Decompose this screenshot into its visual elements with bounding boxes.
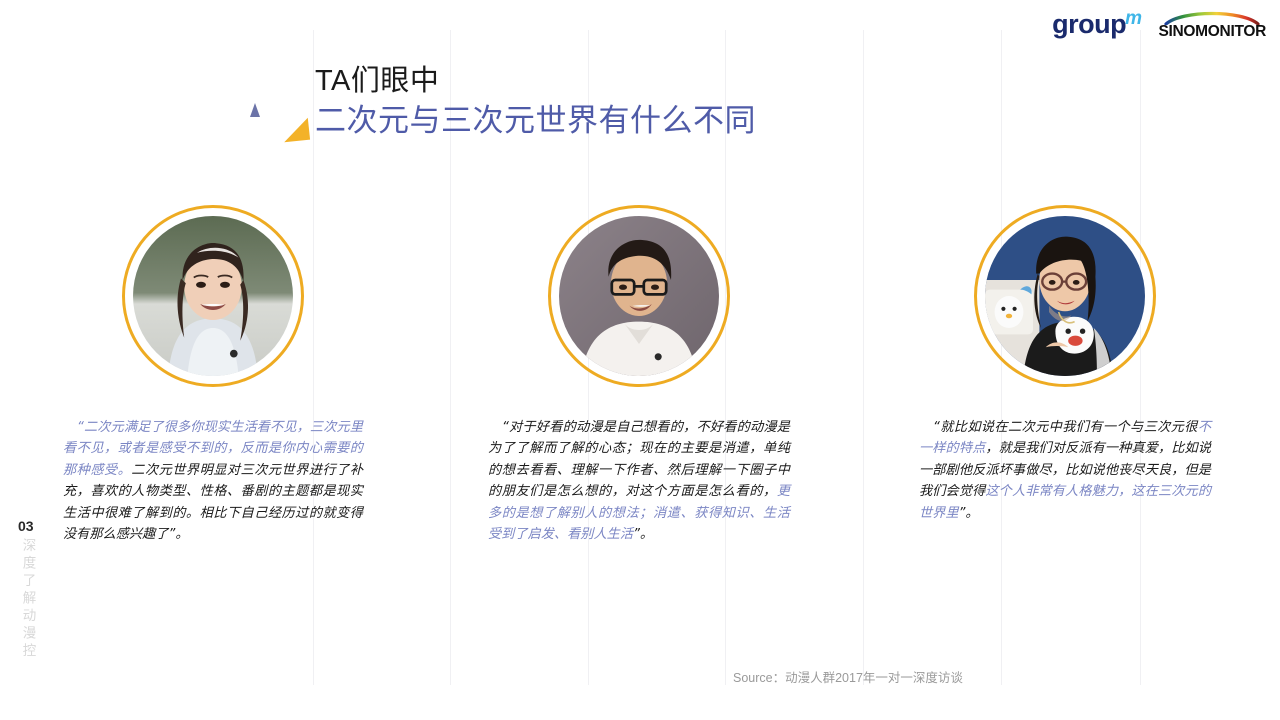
portrait-woman-glasses-plush-toy (985, 216, 1145, 376)
gold-triangle-accent-icon (282, 118, 310, 143)
respondent-columns: “二次元满足了很多你现实生活看不见，三次元里看不见，或者是感受不到的，反而是你内… (0, 205, 1280, 545)
portrait-man-glasses-white-tshirt (559, 216, 719, 376)
portrait-frame-1 (122, 205, 304, 387)
title-line-2: 二次元与三次元世界有什么不同 (315, 102, 756, 140)
quote-3-run-0: “就比如说在二次元中我们有一个与三次元很 (933, 420, 1198, 435)
blue-triangle-accent-icon (250, 103, 260, 117)
quote-2-run-0: “对于好看的动漫是自己想看的，不好看的动漫是为了了解而了解的心态；现在的主要是消… (488, 420, 790, 499)
groupm-wordmark: group (1052, 11, 1126, 38)
portrait-frame-2 (548, 205, 730, 387)
page-title: TA们眼中 二次元与三次元世界有什么不同 (315, 64, 756, 140)
respondent-quote-3: “就比如说在二次元中我们有一个与三次元很不一样的特点，就是我们对反派有一种真爱，… (919, 417, 1211, 524)
respondent-column-2: “对于好看的动漫是自己想看的，不好看的动漫是为了了解而了解的心态；现在的主要是消… (426, 205, 852, 545)
sinomonitor-wordmark: SINOMONITOR (1158, 24, 1266, 40)
respondent-column-1: “二次元满足了很多你现实生活看不见，三次元里看不见，或者是感受不到的，反而是你内… (0, 205, 426, 545)
section-vertical-label: 深度了解动漫控 (21, 538, 35, 661)
respondent-column-3: “就比如说在二次元中我们有一个与三次元很不一样的特点，就是我们对反派有一种真爱，… (852, 205, 1278, 545)
respondent-quote-2: “对于好看的动漫是自己想看的，不好看的动漫是为了了解而了解的心态；现在的主要是消… (488, 417, 790, 545)
title-line-1: TA们眼中 (315, 64, 756, 99)
brand-logo-bar: groupm SINOMONITOR (1052, 10, 1266, 40)
page-number: 03 (18, 518, 34, 534)
quote-3-run-4: ”。 (959, 506, 979, 521)
quote-2-run-2: ”。 (633, 527, 653, 542)
portrait-young-woman-light-blouse (133, 216, 293, 376)
groupm-m-mark: m (1125, 9, 1141, 28)
portrait-frame-3 (974, 205, 1156, 387)
respondent-quote-1: “二次元满足了很多你现实生活看不见，三次元里看不见，或者是感受不到的，反而是你内… (63, 417, 363, 545)
source-note: Source：动漫人群2017年一对一深度访谈 (733, 667, 963, 686)
sinomonitor-logo: SINOMONITOR (1158, 10, 1266, 40)
groupm-logo: groupm (1052, 11, 1142, 38)
